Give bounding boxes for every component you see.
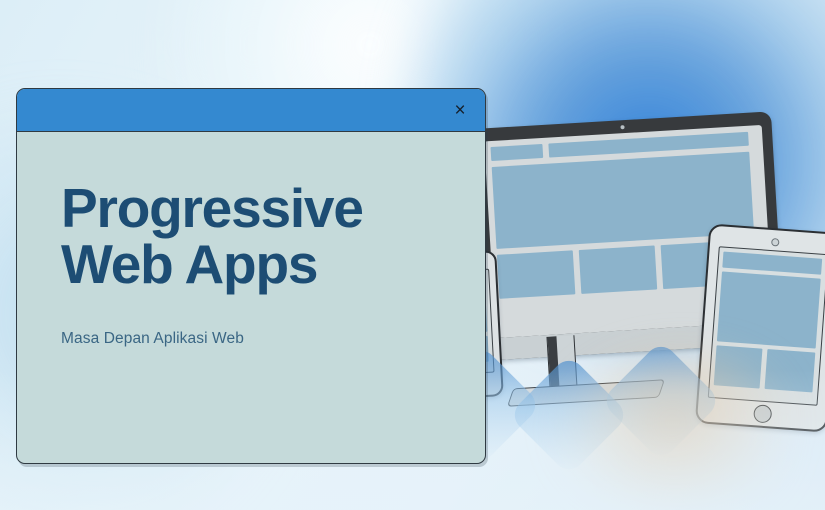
window-content: Progressive Web Apps Masa Depan Aplikasi…	[17, 132, 485, 462]
screen-block	[497, 250, 575, 298]
monitor-camera-icon	[620, 125, 624, 129]
window-card: × Progressive Web Apps Masa Depan Aplika…	[16, 88, 486, 464]
screen-block	[717, 271, 821, 348]
close-icon[interactable]: ×	[443, 93, 477, 127]
page-subtitle: Masa Depan Aplikasi Web	[61, 330, 485, 348]
page-title: Progressive Web Apps	[61, 180, 485, 292]
presentation-slide: × Progressive Web Apps Masa Depan Aplika…	[0, 0, 825, 510]
screen-block	[579, 245, 657, 293]
screen-block	[490, 144, 543, 161]
window-titlebar: ×	[17, 89, 485, 132]
screen-block	[722, 252, 822, 275]
tablet-camera-icon	[771, 238, 780, 247]
